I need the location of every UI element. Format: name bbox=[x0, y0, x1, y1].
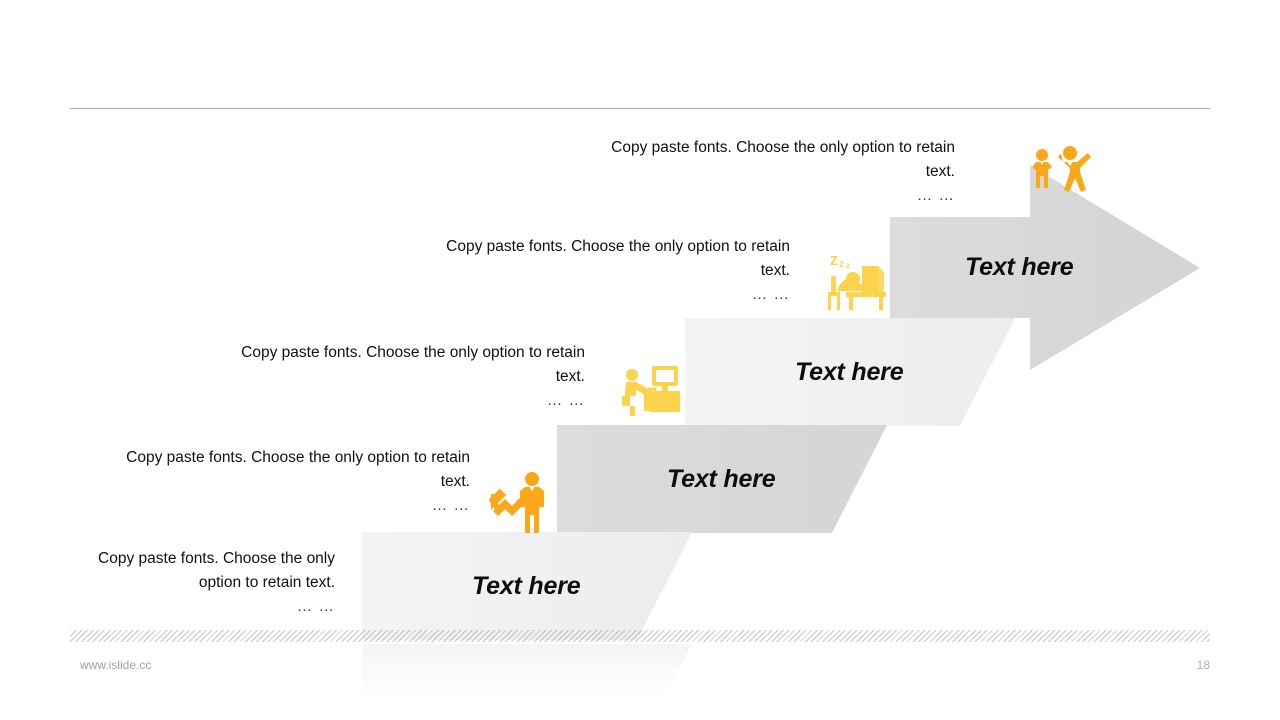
step-label-5: Text here bbox=[472, 572, 580, 601]
desc-line-2a: Copy paste fonts. Choose the only option bbox=[446, 238, 730, 255]
step-label-2: Text here bbox=[795, 358, 903, 387]
bar-reflection bbox=[362, 644, 692, 696]
desc-line-1a: Copy paste fonts. Choose the only option bbox=[611, 139, 895, 156]
desc-dots-3: … … bbox=[230, 389, 585, 413]
step-label-3: Text here bbox=[667, 465, 775, 494]
step-bar-2[interactable]: Text here bbox=[685, 318, 1015, 426]
svg-text:z: z bbox=[846, 261, 850, 270]
step-description-1: Copy paste fonts. Choose the only option… bbox=[600, 136, 955, 208]
desc-dots-4: … … bbox=[115, 494, 470, 518]
desc-line-5b: option to retain text. bbox=[199, 574, 335, 591]
two-people-celebrating-icon bbox=[1027, 143, 1091, 207]
step-bar-4[interactable]: Text here bbox=[362, 532, 692, 640]
desc-line-1b: to retain text. bbox=[899, 139, 955, 180]
desc-line-2b: to retain text. bbox=[734, 238, 790, 279]
person-sleeping-at-desk-icon: Z z z bbox=[822, 252, 888, 314]
step-label-1: Text here bbox=[965, 253, 1073, 282]
desc-line-4a: Copy paste fonts. Choose the only option bbox=[126, 449, 410, 466]
person-with-briefcase-at-desk-icon bbox=[618, 362, 682, 420]
step-description-2: Copy paste fonts. Choose the only option… bbox=[435, 235, 790, 307]
desc-dots-2: … … bbox=[435, 283, 790, 307]
step-description-5: Copy paste fonts. Choose the only option… bbox=[60, 547, 335, 619]
svg-text:Z: Z bbox=[830, 253, 838, 268]
desc-line-3b: to retain text. bbox=[529, 344, 585, 385]
person-pointing-at-growth-arrow-icon bbox=[489, 468, 551, 534]
desc-dots-5: … … bbox=[60, 595, 335, 619]
svg-text:z: z bbox=[839, 259, 844, 270]
desc-line-5a: Copy paste fonts. Choose the only bbox=[98, 550, 335, 567]
step-description-3: Copy paste fonts. Choose the only option… bbox=[230, 341, 585, 413]
slide-canvas: Text here Text here Text here bbox=[0, 0, 1280, 720]
step-bar-3[interactable]: Text here bbox=[557, 425, 887, 533]
footer-hatch-band bbox=[70, 630, 1210, 642]
footer-page-number: 18 bbox=[1160, 658, 1210, 672]
desc-dots-1: … … bbox=[600, 184, 955, 208]
desc-line-3a: Copy paste fonts. Choose the only option bbox=[241, 344, 525, 361]
header-divider bbox=[70, 108, 1210, 109]
desc-line-4b: to retain text. bbox=[414, 449, 470, 490]
step-description-4: Copy paste fonts. Choose the only option… bbox=[115, 446, 470, 518]
footer-url[interactable]: www.islide.cc bbox=[80, 658, 151, 672]
